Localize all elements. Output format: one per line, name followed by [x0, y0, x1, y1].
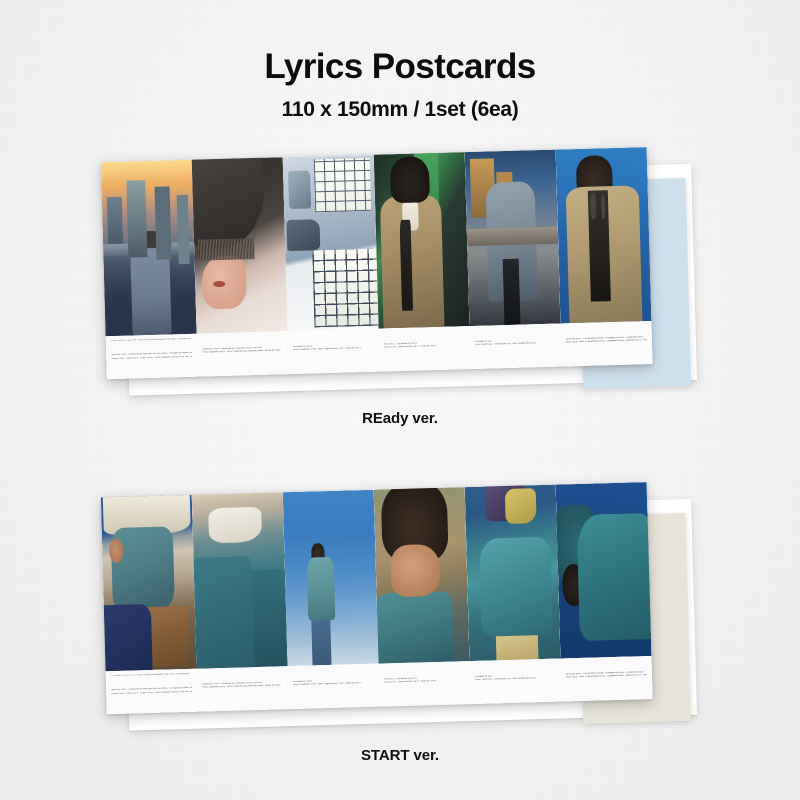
credits: Lyrics by 이현승 · Composed by Rick Dun, Wi… — [111, 352, 192, 361]
postcard-photo — [465, 150, 561, 326]
postcard[interactable]: Lyrics by 정유진 · Composed by 김태윤 · Arrang… — [556, 147, 653, 366]
postcard-photo — [283, 155, 379, 331]
postcard-set-start: ENHYPEN 그 때 처음의 따뜻한 기억 추억할게 Let you be a… — [0, 483, 800, 733]
lyric-line: 그 때 처음의 따뜻한 기억 추억할게 Let you be always in… — [111, 673, 192, 678]
lyric-line — [202, 670, 283, 672]
postcard[interactable]: Written by 박지후 · Composed by Collapsed S… — [192, 492, 289, 711]
postcard-photo — [283, 490, 379, 666]
version-label-ready: REady ver. — [0, 410, 800, 427]
postcard-caption: Arranged by 서하준 Piano, Keyboard 서하준 · MI… — [288, 664, 380, 710]
postcard[interactable]: Written by 박지후 · Composed by Collapsed S… — [192, 157, 289, 376]
postcard-photo — [192, 157, 288, 333]
credits: Written by 박지후 · Composed by Collapsed S… — [202, 681, 283, 690]
postcard-row: 그 때 처음의 따뜻한 기억 추억할게 Let you be always in… — [101, 482, 653, 714]
postcard-row: 그 날의 때뜻한 기억을 계속 추억할게 Let you be always i… — [101, 147, 653, 379]
lyric-line — [384, 665, 465, 667]
postcard[interactable]: Arranged by 서하준 Piano, Keyboard 서하준 · MI… — [283, 155, 380, 374]
postcard[interactable]: 그 날의 때뜻한 기억을 계속 추억할게 Let you be always i… — [101, 160, 198, 379]
postcard-photo — [556, 147, 652, 323]
credits: Arranged by 강현 Piano, Synth 강현 · Synthes… — [475, 339, 556, 348]
lyric-line — [566, 325, 647, 327]
lyric-line — [293, 668, 374, 670]
postcard[interactable]: Rap 정우진 · Composed by 정우진 Vocal 정우진 · Di… — [374, 152, 471, 371]
postcard-photo — [374, 487, 470, 663]
postcard-set-ready: ENHYPEN 그 날의 때뜻한 기억을 계속 추억할게 Let you be … — [0, 148, 800, 398]
postcard-photo — [465, 485, 561, 661]
postcard[interactable]: Arranged by 강현 Piano, Synth 강현 · Synthes… — [465, 485, 562, 704]
postcard[interactable]: Arranged by 강현 Piano, Synth 강현 · Synthes… — [465, 150, 562, 369]
postcard-caption: Written by 박지후 · Composed by Collapsed S… — [197, 331, 289, 377]
postcard-caption: 그 때 처음의 따뜻한 기억 추억할게 Let you be always in… — [106, 669, 198, 715]
lyric-line — [202, 335, 283, 337]
credits: Rap 정우진 · Composed by 정우진 Vocal 정우진 · Di… — [384, 341, 465, 350]
postcard-caption: Arranged by 강현 Piano, Synth 강현 · Synthes… — [470, 324, 562, 370]
credits: Rap 정우진 · Composed by 정우진 Vocal 정우진 · Di… — [384, 676, 465, 685]
postcard[interactable]: Lyrics by 정유진 · Composed by 김태윤 · Arrang… — [556, 482, 653, 701]
page-title: Lyrics Postcards — [0, 48, 800, 87]
postcard-photo — [556, 482, 652, 658]
postcard[interactable]: Rap 정우진 · Composed by 정우진 Vocal 정우진 · Di… — [374, 487, 471, 706]
postcard-stack: ENHYPEN 그 때 처음의 따뜻한 기억 추억할게 Let you be a… — [87, 474, 714, 741]
lyric-line — [475, 328, 556, 330]
lyric-line: 그 날의 때뜻한 기억을 계속 추억할게 Let you be always i… — [111, 338, 192, 343]
postcard-photo — [374, 152, 470, 328]
version-label-start: START ver. — [0, 747, 800, 764]
credits: Arranged by 서하준 Piano, Keyboard 서하준 · MI… — [293, 344, 374, 353]
postcard[interactable]: 그 때 처음의 따뜻한 기억 추억할게 Let you be always in… — [101, 495, 198, 714]
lyric-line — [475, 663, 556, 665]
postcard-set-stage: ENHYPEN 그 날의 때뜻한 기억을 계속 추억할게 Let you be … — [90, 148, 710, 398]
page-header: Lyrics Postcards 110 x 150mm / 1set (6ea… — [0, 0, 800, 122]
lyric-line — [384, 330, 465, 332]
lyric-line — [566, 660, 647, 662]
postcard-caption: Written by 박지후 · Composed by Collapsed S… — [197, 666, 289, 712]
postcard-caption: Rap 정우진 · Composed by 정우진 Vocal 정우진 · Di… — [379, 326, 471, 372]
lyric-line — [293, 333, 374, 335]
credits: Written by 박지후 · Composed by Collapsed S… — [202, 346, 283, 355]
postcard-set-stage: ENHYPEN 그 때 처음의 따뜻한 기억 추억할게 Let you be a… — [90, 483, 710, 733]
postcard[interactable]: Arranged by 서하준 Piano, Keyboard 서하준 · MI… — [283, 490, 380, 709]
postcard-caption: Lyrics by 정유진 · Composed by 김태윤 · Arrang… — [560, 321, 652, 367]
credits: Arranged by 서하준 Piano, Keyboard 서하준 · MI… — [293, 679, 374, 688]
credits: Lyrics by 이현승 · Composed by Rick Dun, Wi… — [111, 687, 192, 696]
postcard-photo — [192, 492, 288, 668]
postcard-caption: Arranged by 서하준 Piano, Keyboard 서하준 · MI… — [288, 329, 380, 375]
postcard-photo — [101, 495, 197, 671]
credits: Lyrics by 정유진 · Composed by 김태윤 · Arrang… — [566, 671, 647, 680]
page-subtitle: 110 x 150mm / 1set (6ea) — [0, 98, 800, 122]
credits: Lyrics by 정유진 · Composed by 김태윤 · Arrang… — [566, 336, 647, 345]
postcard-caption: Rap 정우진 · Composed by 정우진 Vocal 정우진 · Di… — [379, 661, 471, 707]
postcard-stack: ENHYPEN 그 날의 때뜻한 기억을 계속 추억할게 Let you be … — [87, 139, 714, 406]
postcard-photo — [101, 160, 197, 336]
postcard-caption: 그 날의 때뜻한 기억을 계속 추억할게 Let you be always i… — [106, 334, 198, 380]
credits: Arranged by 강현 Piano, Synth 강현 · Synthes… — [475, 674, 556, 683]
postcard-caption: Arranged by 강현 Piano, Synth 강현 · Synthes… — [470, 659, 562, 705]
postcard-caption: Lyrics by 정유진 · Composed by 김태윤 · Arrang… — [560, 656, 652, 702]
